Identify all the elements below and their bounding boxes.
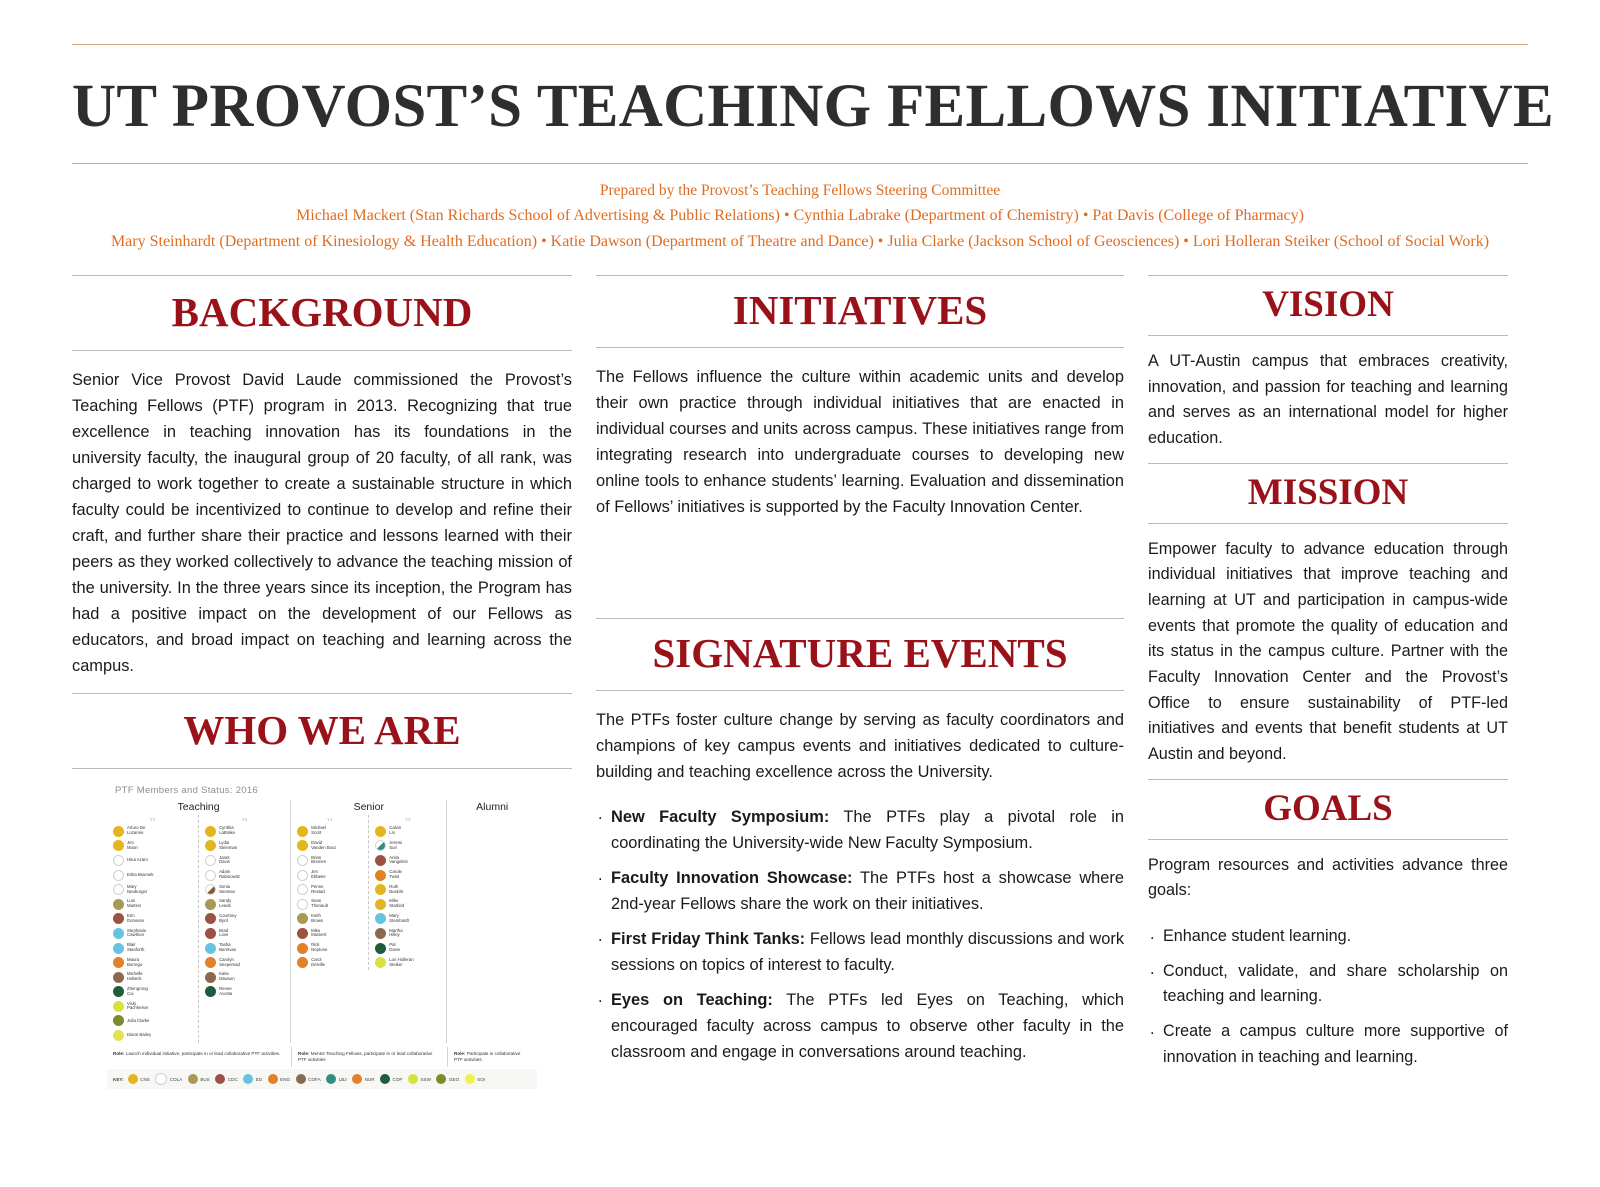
- chart-member-name: Jen Ebbeler: [311, 870, 326, 880]
- chart-key-dot: [296, 1074, 306, 1084]
- chart-member-row: Arturo De Lozanne: [107, 824, 198, 839]
- chart-member-row: Luis Martins: [107, 897, 198, 912]
- chart-key-code: LBJ: [339, 1077, 347, 1082]
- chart-year-label: Y1: [107, 817, 198, 824]
- chart-key-item: LBJ: [326, 1074, 346, 1084]
- chart-year-column: Y1Arturo De LozanneJen MoonHina AzamErik…: [107, 815, 198, 1043]
- section-background: BACKGROUND Senior Vice Provost David Lau…: [72, 275, 572, 693]
- chart-member-row: Adam Rabinowitz: [199, 868, 290, 883]
- member-status-dot: [205, 855, 216, 866]
- chart-member-name: Rick Neptune: [311, 943, 327, 953]
- chart-member-name: Maura Borrego: [127, 958, 142, 968]
- chart-member-row: Blair Stanforth: [107, 941, 198, 956]
- chart-role-cell: Role: Participate in collaborative PTF a…: [447, 1047, 537, 1067]
- member-status-dot: [205, 986, 216, 997]
- chart-key-code: ENG: [280, 1077, 290, 1082]
- chart-member-row: Janet Davis: [199, 853, 290, 868]
- member-status-dot: [375, 928, 386, 939]
- member-status-dot: [297, 855, 308, 866]
- chart-role-label: Role:: [298, 1051, 309, 1056]
- chart-key-code: SOI: [477, 1077, 485, 1082]
- chart-member-name: Courtney Byrd: [219, 914, 236, 924]
- chart-role-cell: Role: Mentor Teaching Fellows, participa…: [291, 1047, 447, 1067]
- chart-member-name: Brad Love: [219, 929, 228, 939]
- credits-line-2: Michael Mackert (Stan Richards School of…: [72, 203, 1528, 229]
- member-status-dot: [113, 840, 124, 851]
- member-status-dot: [205, 884, 216, 895]
- member-status-dot: [205, 928, 216, 939]
- chart-member-name: Zhengrong Cui: [127, 987, 148, 997]
- chart-member-row: Sean Theriault: [291, 897, 368, 912]
- signature-event-label: First Friday Think Tanks:: [611, 930, 805, 948]
- chart-member-name: Carol Delville: [311, 958, 325, 968]
- member-status-dot: [113, 1001, 124, 1012]
- chart-member-name: Blair Stanforth: [127, 943, 144, 953]
- chart-member-name: Anita Vangelisti: [389, 856, 407, 866]
- column-left: BACKGROUND Senior Vice Provost David Lau…: [72, 275, 572, 1089]
- chart-group: SeniorY1Michael ScottDavid Vanden BoutBr…: [290, 800, 446, 1043]
- member-status-dot: [205, 899, 216, 910]
- chart-member-row: Hina Azam: [107, 853, 198, 868]
- chart-member-row: Stephanie Cawthon: [107, 926, 198, 941]
- chart-year-column: Y2Calvin LinJeremi SuriAnita VangelistiC…: [368, 815, 446, 970]
- chart-key-dot: [352, 1074, 362, 1084]
- chart-canvas: PTF Members and Status: 2016 TeachingY1A…: [107, 785, 537, 1089]
- chart-member-row: Rick Neptune: [291, 941, 368, 956]
- chart-member-row: Michelle Habeck: [107, 970, 198, 985]
- chart-key-code: CNS: [140, 1077, 150, 1082]
- signature-event-label: Eyes on Teaching:: [611, 991, 773, 1009]
- member-status-dot: [205, 840, 216, 851]
- member-status-dot: [113, 986, 124, 997]
- chart-key-legend: KEY:CNSCOLABUSCDCEDENGCOFALBJNURCOPSSWGE…: [107, 1069, 537, 1089]
- vision-body: A UT-Austin campus that embraces creativ…: [1148, 336, 1508, 463]
- chart-group-label: Teaching: [107, 800, 290, 815]
- chart-member-row: Diane Bailey: [107, 1028, 198, 1043]
- chart-member-name: Mike Mackert: [311, 929, 326, 939]
- member-status-dot: [113, 1015, 124, 1026]
- chart-key-dot: [380, 1074, 390, 1084]
- signature-events-intro: The PTFs foster culture change by servin…: [596, 691, 1124, 795]
- vision-heading: VISION: [1148, 276, 1508, 335]
- member-status-dot: [205, 943, 216, 954]
- chart-key-item: BUS: [188, 1074, 210, 1084]
- chart-member-name: Arturo De Lozanne: [127, 826, 145, 836]
- chart-key-item: COFA: [296, 1074, 321, 1084]
- chart-member-name: Jen Moon: [127, 841, 138, 851]
- chart-member-name: Calvin Lin: [389, 826, 401, 836]
- background-body: Senior Vice Provost David Laude commissi…: [72, 351, 572, 693]
- chart-member-row: Mary Steinhardt: [369, 912, 446, 927]
- chart-groups: TeachingY1Arturo De LozanneJen MoonHina …: [107, 800, 537, 1043]
- chart-member-row: Tasha Beretvas: [199, 941, 290, 956]
- member-status-dot: [297, 913, 308, 924]
- member-status-dot: [375, 884, 386, 895]
- member-status-dot: [113, 884, 124, 895]
- member-status-dot: [113, 913, 124, 924]
- chart-member-row: Lori Holleran Steiker: [369, 955, 446, 970]
- chart-key-code: GEO: [449, 1077, 459, 1082]
- member-status-dot: [113, 1030, 124, 1041]
- chart-member-row: Keith Brown: [291, 912, 368, 927]
- chart-member-name: Stephanie Cawthon: [127, 929, 146, 939]
- member-status-dot: [297, 884, 308, 895]
- chart-key-code: BUS: [200, 1077, 209, 1082]
- chart-member-row: Vicki Pachheiser: [107, 999, 198, 1014]
- member-status-dot: [375, 840, 386, 851]
- chart-member-name: Erin Donovan: [127, 914, 144, 924]
- chart-member-row: Cynthia LaBrake: [199, 824, 290, 839]
- chart-key-dot: [465, 1074, 475, 1084]
- goals-list: Enhance student learning.Conduct, valida…: [1148, 924, 1508, 1070]
- chart-member-name: Tasha Beretvas: [219, 943, 236, 953]
- chart-member-row: Erin Donovan: [107, 912, 198, 927]
- chart-member-row: Julia Clarke: [107, 1014, 198, 1029]
- member-status-dot: [297, 870, 308, 881]
- section-signature-events: SIGNATURE EVENTS The PTFs foster culture…: [596, 618, 1124, 1065]
- goals-heading: GOALS: [1148, 780, 1508, 839]
- chart-key-dot: [128, 1074, 138, 1084]
- member-status-dot: [297, 943, 308, 954]
- member-status-dot: [205, 870, 216, 881]
- chart-member-name: Erika Bsumek: [127, 873, 154, 878]
- chart-key-item: ED: [243, 1074, 262, 1084]
- chart-member-name: Vicki Pachheiser: [127, 1002, 149, 1012]
- chart-subcolumns: Y1Michael ScottDavid Vanden BoutBrian Br…: [291, 815, 446, 970]
- credits-block: Prepared by the Provost’s Teaching Fello…: [72, 164, 1528, 261]
- chart-year-label: Y2: [199, 817, 290, 824]
- signature-event-item: New Faculty Symposium: The PTFs play a p…: [596, 804, 1124, 856]
- chart-member-name: Mary Steinhardt: [389, 914, 409, 924]
- chart-member-row: Sandy Leeds: [199, 897, 290, 912]
- chart-member-name: Sandy Leeds: [219, 899, 231, 909]
- chart-member-row: Jen Moon: [107, 839, 198, 854]
- member-status-dot: [113, 957, 124, 968]
- member-status-dot: [375, 826, 386, 837]
- chart-member-row: Katie Dawson: [199, 970, 290, 985]
- chart-member-row: Carole Twist: [369, 868, 446, 883]
- chart-year-column: [447, 815, 492, 824]
- chart-role-label: Role:: [454, 1051, 465, 1056]
- chart-year-label: [447, 817, 492, 824]
- chart-member-name: Mary Neuburger: [127, 885, 147, 895]
- chart-key-code: NUR: [365, 1077, 375, 1082]
- chart-member-name: Ruth Buskirk: [389, 885, 403, 895]
- member-status-dot: [113, 928, 124, 939]
- who-we-are-heading: WHO WE ARE: [72, 694, 572, 768]
- section-initiatives: INITIATIVES The Fellows influence the cu…: [596, 275, 1124, 530]
- chart-year-column: Y2Cynthia LaBrakeLydia SteinmanJanet Dav…: [198, 815, 290, 1043]
- header-top-rule: [72, 44, 1528, 45]
- member-status-dot: [113, 972, 124, 983]
- chart-key-item: NUR: [352, 1074, 374, 1084]
- chart-key-item: COP: [380, 1074, 402, 1084]
- chart-year-label: Y2: [369, 817, 446, 824]
- chart-member-row: Zhengrong Cui: [107, 985, 198, 1000]
- member-status-dot: [113, 943, 124, 954]
- mission-heading: MISSION: [1148, 464, 1508, 523]
- chart-member-row: Ruth Buskirk: [369, 882, 446, 897]
- member-status-dot: [113, 899, 124, 910]
- member-status-dot: [205, 826, 216, 837]
- goal-item: Enhance student learning.: [1148, 924, 1508, 950]
- signature-event-item: Eyes on Teaching: The PTFs led Eyes on T…: [596, 987, 1124, 1065]
- chart-member-name: Renee Acosta: [219, 987, 232, 997]
- signature-event-item: Faculty Innovation Showcase: The PTFs ho…: [596, 865, 1124, 917]
- chart-member-name: Carolyn Seepersad: [219, 958, 240, 968]
- chart-key-code: COP: [393, 1077, 403, 1082]
- chart-subcolumns: Y1Arturo De LozanneJen MoonHina AzamErik…: [107, 815, 290, 1043]
- section-who-we-are: WHO WE ARE PTF Members and Status: 2016 …: [72, 693, 572, 1089]
- signature-events-list: New Faculty Symposium: The PTFs play a p…: [596, 804, 1124, 1065]
- chart-member-row: Brian Bremen: [291, 853, 368, 868]
- goal-item: Conduct, validate, and share scholarship…: [1148, 959, 1508, 1010]
- chart-member-row: Jen Ebbeler: [291, 868, 368, 883]
- chart-key-dot: [436, 1074, 446, 1084]
- chart-member-name: Katie Dawson: [219, 972, 235, 982]
- column-right: VISION A UT-Austin campus that embraces …: [1148, 275, 1508, 1089]
- chart-key-item: CDC: [215, 1074, 237, 1084]
- chart-member-name: Brian Bremen: [311, 856, 326, 866]
- chart-member-name: Keith Brown: [311, 914, 323, 924]
- member-status-dot: [297, 957, 308, 968]
- chart-member-name: Michelle Habeck: [127, 972, 143, 982]
- member-status-dot: [375, 957, 386, 968]
- member-status-dot: [205, 957, 216, 968]
- signature-event-label: Faculty Innovation Showcase:: [611, 869, 852, 887]
- chart-key-dot: [188, 1074, 198, 1084]
- member-status-dot: [375, 913, 386, 924]
- chart-member-row: Penne Restad: [291, 882, 368, 897]
- chart-member-name: Hina Azam: [127, 858, 148, 863]
- chart-group: Alumni: [446, 800, 537, 1043]
- chart-member-name: Penne Restad: [311, 885, 325, 895]
- chart-member-name: Sean Theriault: [311, 899, 328, 909]
- member-status-dot: [113, 826, 124, 837]
- credits-line-3: Mary Steinhardt (Department of Kinesiolo…: [72, 229, 1528, 255]
- goals-intro: Program resources and activities advance…: [1148, 840, 1508, 915]
- column-middle-spacer: [596, 530, 1124, 618]
- chart-role-text: Launch individual initiative, participat…: [124, 1051, 280, 1056]
- chart-key-item: CNS: [128, 1074, 150, 1084]
- chart-group: TeachingY1Arturo De LozanneJen MoonHina …: [107, 800, 290, 1043]
- chart-group-label: Senior: [291, 800, 446, 815]
- member-status-dot: [297, 826, 308, 837]
- section-vision: VISION A UT-Austin campus that embraces …: [1148, 275, 1508, 463]
- chart-member-row: David Vanden Bout: [291, 839, 368, 854]
- chart-key-item: SSW: [408, 1074, 431, 1084]
- chart-member-row: Carol Delville: [291, 955, 368, 970]
- chart-key-dot: [268, 1074, 278, 1084]
- chart-group-label: Alumni: [447, 800, 537, 815]
- chart-member-row: Lydia Steinman: [199, 839, 290, 854]
- chart-member-row: Pat Davis: [369, 941, 446, 956]
- poster-root: UT PROVOST’S TEACHING FELLOWS INITIATIVE…: [0, 44, 1600, 1187]
- member-status-dot: [297, 899, 308, 910]
- member-status-dot: [375, 943, 386, 954]
- chart-year-label: Y1: [291, 817, 368, 824]
- chart-member-row: Sonia Seeman: [199, 882, 290, 897]
- chart-key-dot: [326, 1074, 336, 1084]
- chart-key-code: COFA: [308, 1077, 321, 1082]
- chart-role-label: Role:: [113, 1051, 124, 1056]
- chart-member-row: Anita Vangelisti: [369, 853, 446, 868]
- chart-subcolumns: [447, 815, 537, 824]
- mission-body: Empower faculty to advance education thr…: [1148, 524, 1508, 779]
- chart-key-item: ENG: [268, 1074, 290, 1084]
- chart-member-name: Cynthia LaBrake: [219, 826, 235, 836]
- chart-member-row: Michael Scott: [291, 824, 368, 839]
- chart-member-row: Mike Mackert: [291, 926, 368, 941]
- chart-key-dot: [215, 1074, 225, 1084]
- chart-member-row: Jeremi Suri: [369, 839, 446, 854]
- initiatives-heading: INITIATIVES: [596, 276, 1124, 347]
- member-status-dot: [375, 870, 386, 881]
- section-mission: MISSION Empower faculty to advance educa…: [1148, 463, 1508, 779]
- chart-key-code: SSW: [420, 1077, 430, 1082]
- chart-key-dot: [408, 1074, 418, 1084]
- content-columns: BACKGROUND Senior Vice Provost David Lau…: [72, 275, 1528, 1089]
- column-middle: INITIATIVES The Fellows influence the cu…: [596, 275, 1124, 1089]
- chart-year-column: Y1Michael ScottDavid Vanden BoutBrian Br…: [291, 815, 368, 970]
- chart-role-text: Mentor Teaching Fellows, participate in …: [298, 1051, 432, 1062]
- chart-member-row: Carolyn Seepersad: [199, 955, 290, 970]
- chart-member-name: Sonia Seeman: [219, 885, 235, 895]
- chart-member-row: Courtney Byrd: [199, 912, 290, 927]
- prepared-by-line: Prepared by the Provost’s Teaching Fello…: [72, 178, 1528, 203]
- member-status-dot: [297, 840, 308, 851]
- chart-member-name: Luis Martins: [127, 899, 141, 909]
- member-status-dot: [113, 870, 124, 881]
- member-status-dot: [205, 913, 216, 924]
- chart-member-name: Martha Hilley: [389, 929, 402, 939]
- chart-member-name: Julia Clarke: [127, 1019, 149, 1024]
- signature-event-label: New Faculty Symposium:: [611, 808, 829, 826]
- chart-member-name: Mike Starbird: [389, 899, 404, 909]
- chart-member-name: Lori Holleran Steiker: [389, 958, 413, 968]
- member-status-dot: [375, 899, 386, 910]
- chart-member-row: Erika Bsumek: [107, 868, 198, 883]
- chart-member-row: Calvin Lin: [369, 824, 446, 839]
- chart-key-dot: [155, 1073, 167, 1085]
- member-status-dot: [375, 855, 386, 866]
- chart-key-item: SOI: [465, 1074, 485, 1084]
- chart-member-row: Maura Borrego: [107, 955, 198, 970]
- ptf-members-chart: PTF Members and Status: 2016 TeachingY1A…: [72, 769, 572, 1089]
- goal-item: Create a campus culture more supportive …: [1148, 1019, 1508, 1070]
- chart-member-name: Pat Davis: [389, 943, 400, 953]
- chart-member-name: Jeremi Suri: [389, 841, 402, 851]
- member-status-dot: [297, 928, 308, 939]
- member-status-dot: [113, 855, 124, 866]
- initiatives-body: The Fellows influence the culture within…: [596, 348, 1124, 530]
- chart-key-code: CDC: [228, 1077, 238, 1082]
- chart-member-row: Renee Acosta: [199, 985, 290, 1000]
- chart-member-row: Mike Starbird: [369, 897, 446, 912]
- chart-member-name: Michael Scott: [311, 826, 326, 836]
- chart-member-name: Lydia Steinman: [219, 841, 237, 851]
- page-title: UT PROVOST’S TEACHING FELLOWS INITIATIVE: [72, 75, 1528, 139]
- chart-member-name: Janet Davis: [219, 856, 230, 866]
- chart-member-name: Carole Twist: [389, 870, 402, 880]
- chart-key-item: COLA: [155, 1073, 182, 1085]
- chart-member-name: David Vanden Bout: [311, 841, 336, 851]
- chart-member-row: Brad Love: [199, 926, 290, 941]
- chart-member-row: Martha Hilley: [369, 926, 446, 941]
- chart-role-row: Role: Launch individual initiative, part…: [107, 1047, 537, 1067]
- chart-key-code: COLA: [170, 1077, 183, 1082]
- chart-member-name: Diane Bailey: [127, 1033, 151, 1038]
- chart-key-code: ED: [256, 1077, 262, 1082]
- signature-events-heading: SIGNATURE EVENTS: [596, 619, 1124, 690]
- background-heading: BACKGROUND: [72, 276, 572, 350]
- section-goals: GOALS Program resources and activities a…: [1148, 779, 1508, 1071]
- signature-event-item: First Friday Think Tanks: Fellows lead m…: [596, 926, 1124, 978]
- chart-title: PTF Members and Status: 2016: [115, 785, 537, 796]
- chart-role-cell: Role: Launch individual initiative, part…: [107, 1047, 291, 1067]
- chart-key-item: GEO: [436, 1074, 459, 1084]
- chart-key-dot: [243, 1074, 253, 1084]
- member-status-dot: [205, 972, 216, 983]
- chart-member-row: Mary Neuburger: [107, 882, 198, 897]
- chart-member-name: Adam Rabinowitz: [219, 870, 240, 880]
- chart-key-title: KEY:: [113, 1077, 124, 1082]
